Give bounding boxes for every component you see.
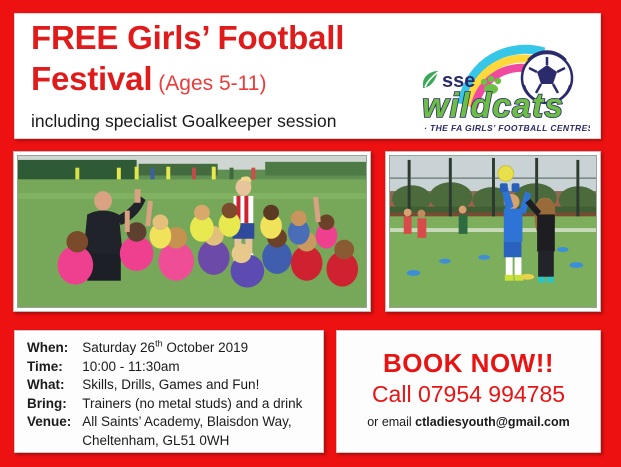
photo-coach-team-talk <box>13 151 371 312</box>
table-row: Cheltenham, GL51 0WH <box>27 433 302 452</box>
coach-team-talk-illustration <box>18 156 366 307</box>
details-label-when: When: <box>27 340 82 359</box>
photo-coach-team-talk-image <box>17 155 367 308</box>
details-value-when: Saturday 26th October 2019 <box>82 340 302 359</box>
goalkeeper-illustration <box>390 156 596 307</box>
book-now-heading: BOOK NOW!! <box>337 347 600 379</box>
booking-email-address[interactable]: ctladiesyouth@gmail.com <box>415 415 570 429</box>
table-row: What: Skills, Drills, Games and Fun! <box>27 377 302 396</box>
booking-email-line: or email ctladiesyouth@gmail.com <box>337 412 600 432</box>
details-value-time: 10:00 - 11:30am <box>82 359 302 378</box>
event-details-panel: When: Saturday 26th October 2019 Time: 1… <box>14 330 324 453</box>
page-title-ages: (Ages 5-11) <box>158 72 266 95</box>
booking-content: BOOK NOW!! Call 07954 994785 or email ct… <box>337 331 600 432</box>
page-title-line2: Festival(Ages 5-11) <box>31 58 421 107</box>
booking-email-prefix: or email <box>367 415 415 429</box>
logo-tagline: · THE FA GIRLS’ FOOTBALL CENTRES · <box>424 123 590 133</box>
details-label-what: What: <box>27 377 82 396</box>
page-title-line1: FREE Girls’ Football <box>31 18 421 58</box>
details-value-what: Skills, Drills, Games and Fun! <box>82 377 302 396</box>
details-value-venue-line2: Cheltenham, GL51 0WH <box>82 433 302 452</box>
details-label-bring: Bring: <box>27 396 82 415</box>
details-label-venue: Venue: <box>27 414 82 433</box>
poster: FREE Girls’ Football Festival(Ages 5-11)… <box>0 0 621 467</box>
table-row: Venue: All Saints’ Academy, Blaisdon Way… <box>27 414 302 433</box>
page-title-festival: Festival <box>31 60 152 97</box>
sse-wildcats-logo: sse wildcats · THE FA GIRLS’ FOOTBALL CE… <box>410 30 590 135</box>
photo-goalkeeper-training-image <box>389 155 597 308</box>
sse-leaf-icon <box>423 71 438 88</box>
wildcats-wordmark: wildcats <box>422 87 564 125</box>
details-value-venue-line1: All Saints’ Academy, Blaisdon Way, <box>82 414 302 433</box>
table-row: Time: 10:00 - 11:30am <box>27 359 302 378</box>
booking-phone: Call 07954 994785 <box>337 379 600 409</box>
page-subtitle: including specialist Goalkeeper session <box>31 108 421 134</box>
table-row: Bring: Trainers (no metal studs) and a d… <box>27 396 302 415</box>
logo-artwork: sse wildcats · THE FA GIRLS’ FOOTBALL CE… <box>410 30 590 135</box>
date-ordinal-suffix: th <box>155 339 163 349</box>
details-value-bring: Trainers (no metal studs) and a drink <box>82 396 302 415</box>
photo-goalkeeper-training <box>385 151 601 312</box>
title-block: FREE Girls’ Football Festival(Ages 5-11)… <box>31 18 421 134</box>
details-label-time: Time: <box>27 359 82 378</box>
header-panel: FREE Girls’ Football Festival(Ages 5-11)… <box>14 13 601 139</box>
table-row: When: Saturday 26th October 2019 <box>27 340 302 359</box>
booking-panel: BOOK NOW!! Call 07954 994785 or email ct… <box>336 330 601 453</box>
details-label-blank <box>27 433 82 452</box>
event-details-table: When: Saturday 26th October 2019 Time: 1… <box>27 340 302 451</box>
